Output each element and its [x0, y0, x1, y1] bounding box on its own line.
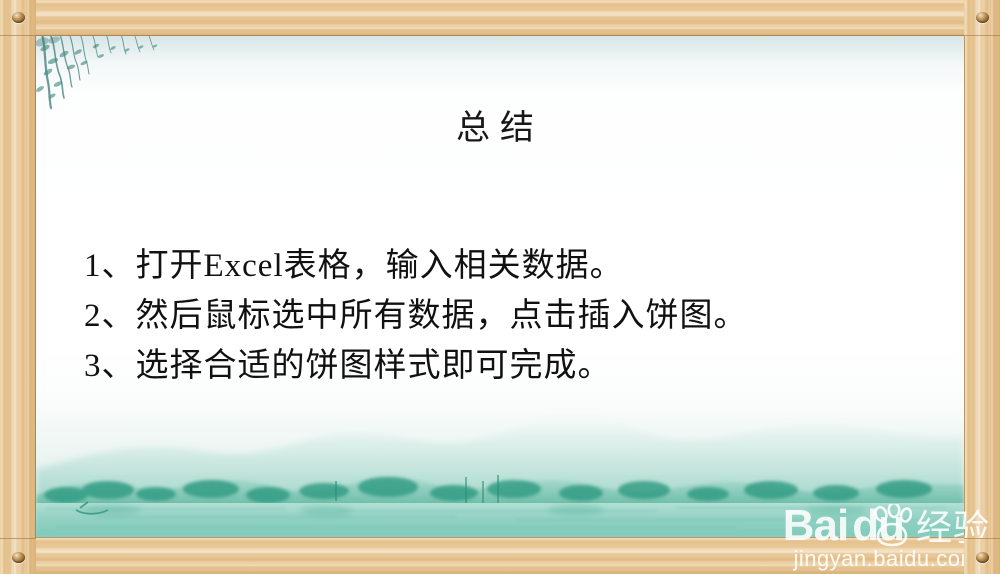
presentation-slide: 总结 1、打开Excel表格，输入相关数据。 2、然后鼠标选中所有数据，点击插入…: [0, 0, 1000, 574]
paw-print-icon: [872, 504, 912, 548]
wood-frame-left: [0, 0, 36, 574]
screw-icon: [976, 552, 989, 563]
screw-icon: [12, 12, 25, 23]
watermark-bai-text: Bai: [783, 504, 848, 548]
summary-steps-list: 1、打开Excel表格，输入相关数据。 2、然后鼠标选中所有数据，点击插入饼图。…: [84, 241, 934, 391]
wood-frame-top: [0, 0, 1000, 36]
baidu-logo: Bai du 经验: [783, 502, 990, 548]
list-item: 2、然后鼠标选中所有数据，点击插入饼图。: [84, 291, 934, 341]
slide-canvas: 总结 1、打开Excel表格，输入相关数据。 2、然后鼠标选中所有数据，点击插入…: [36, 36, 964, 537]
list-item: 3、选择合适的饼图样式即可完成。: [84, 341, 934, 391]
frame-corner-bottom-right: [964, 538, 1000, 574]
frame-corner-bottom-left: [0, 538, 36, 574]
frame-corner-top-left: [0, 0, 36, 36]
frame-corner-top-right: [964, 0, 1000, 36]
screw-icon: [976, 12, 989, 23]
list-item: 1、打开Excel表格，输入相关数据。: [84, 241, 934, 291]
top-mist-wash: [36, 36, 964, 96]
page-title: 总结: [36, 100, 964, 149]
watermark-url: jingyan.baidu.com: [783, 546, 990, 572]
screw-icon: [12, 552, 25, 563]
baidu-jingyan-watermark: Bai du 经验 jingyan.baidu.com: [783, 502, 990, 572]
wood-frame-right: [964, 0, 1000, 574]
